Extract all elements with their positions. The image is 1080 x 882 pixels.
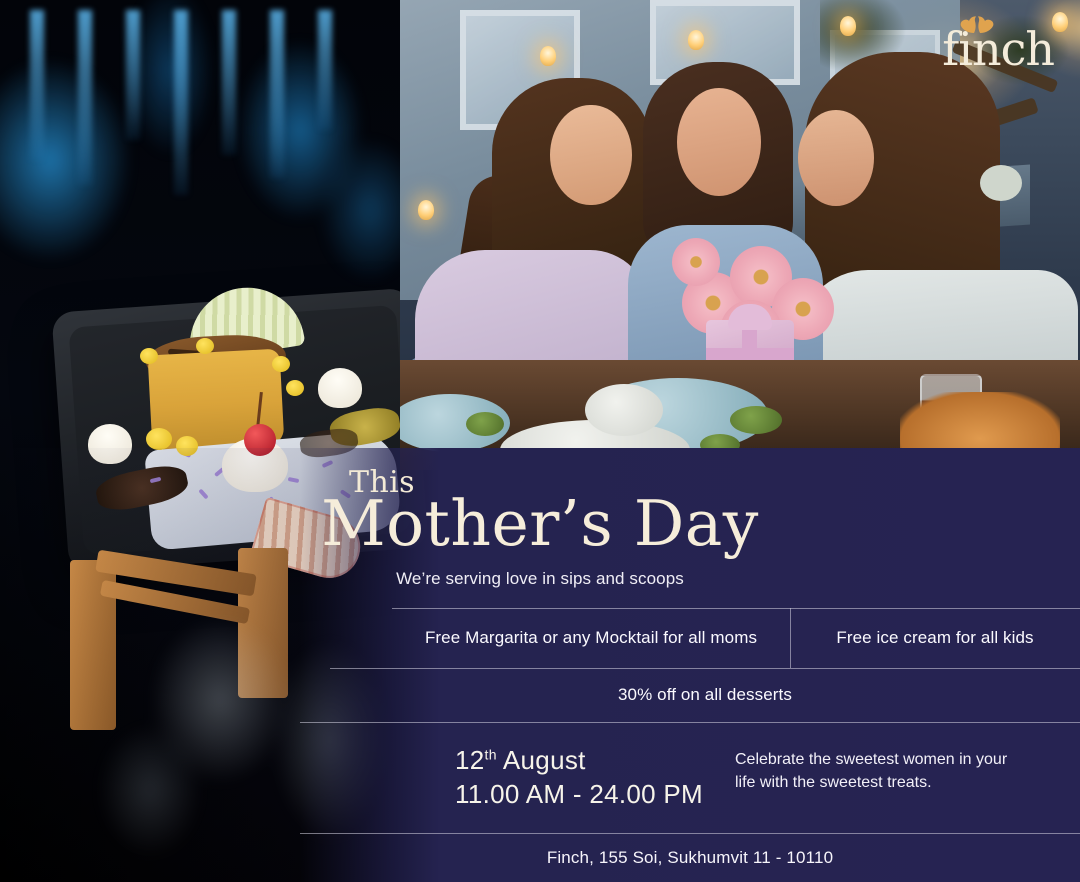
whipped-cream-dollop: [318, 368, 362, 408]
event-date: 12th August: [455, 743, 703, 777]
headline-block: This Mother’s Day We’re serving love in …: [0, 448, 1080, 589]
event-month: August: [497, 745, 586, 775]
venue-address: Finch, 155 Soi, Sukhumvit 11 - 10110: [300, 833, 1080, 882]
offer-label: Free ice cream for all kids: [836, 628, 1033, 648]
event-time: 11.00 AM - 24.00 PM: [455, 777, 703, 811]
event-day: 12: [455, 745, 485, 775]
promo-info-panel: This Mother’s Day We’re serving love in …: [0, 448, 1080, 882]
finch-logo: finch: [942, 14, 1054, 72]
offer-label: Free Margarita or any Mocktail for all m…: [425, 628, 757, 648]
offers-row-primary: Free Margarita or any Mocktail for all m…: [392, 608, 1080, 668]
offer-item-desserts: 30% off on all desserts: [330, 668, 1080, 722]
offer-label: 30% off on all desserts: [618, 685, 792, 705]
offer-item-kids: Free ice cream for all kids: [790, 608, 1080, 668]
blue-smoke-haze: [0, 0, 430, 320]
mothers-day-promo-poster: finch This Mother’s Day We’re serving lo…: [0, 0, 1080, 882]
event-datetime: 12th August 11.00 AM - 24.00 PM: [455, 743, 703, 812]
offer-item-moms: Free Margarita or any Mocktail for all m…: [392, 608, 790, 668]
headline-subtitle: We’re serving love in sips and scoops: [0, 569, 1080, 589]
event-blurb: Celebrate the sweetest women in your lif…: [735, 748, 1025, 794]
divider: [300, 722, 1080, 723]
page-title: Mother’s Day: [0, 492, 1080, 556]
event-day-suffix: th: [485, 746, 497, 762]
brand-name: finch: [942, 26, 1054, 72]
